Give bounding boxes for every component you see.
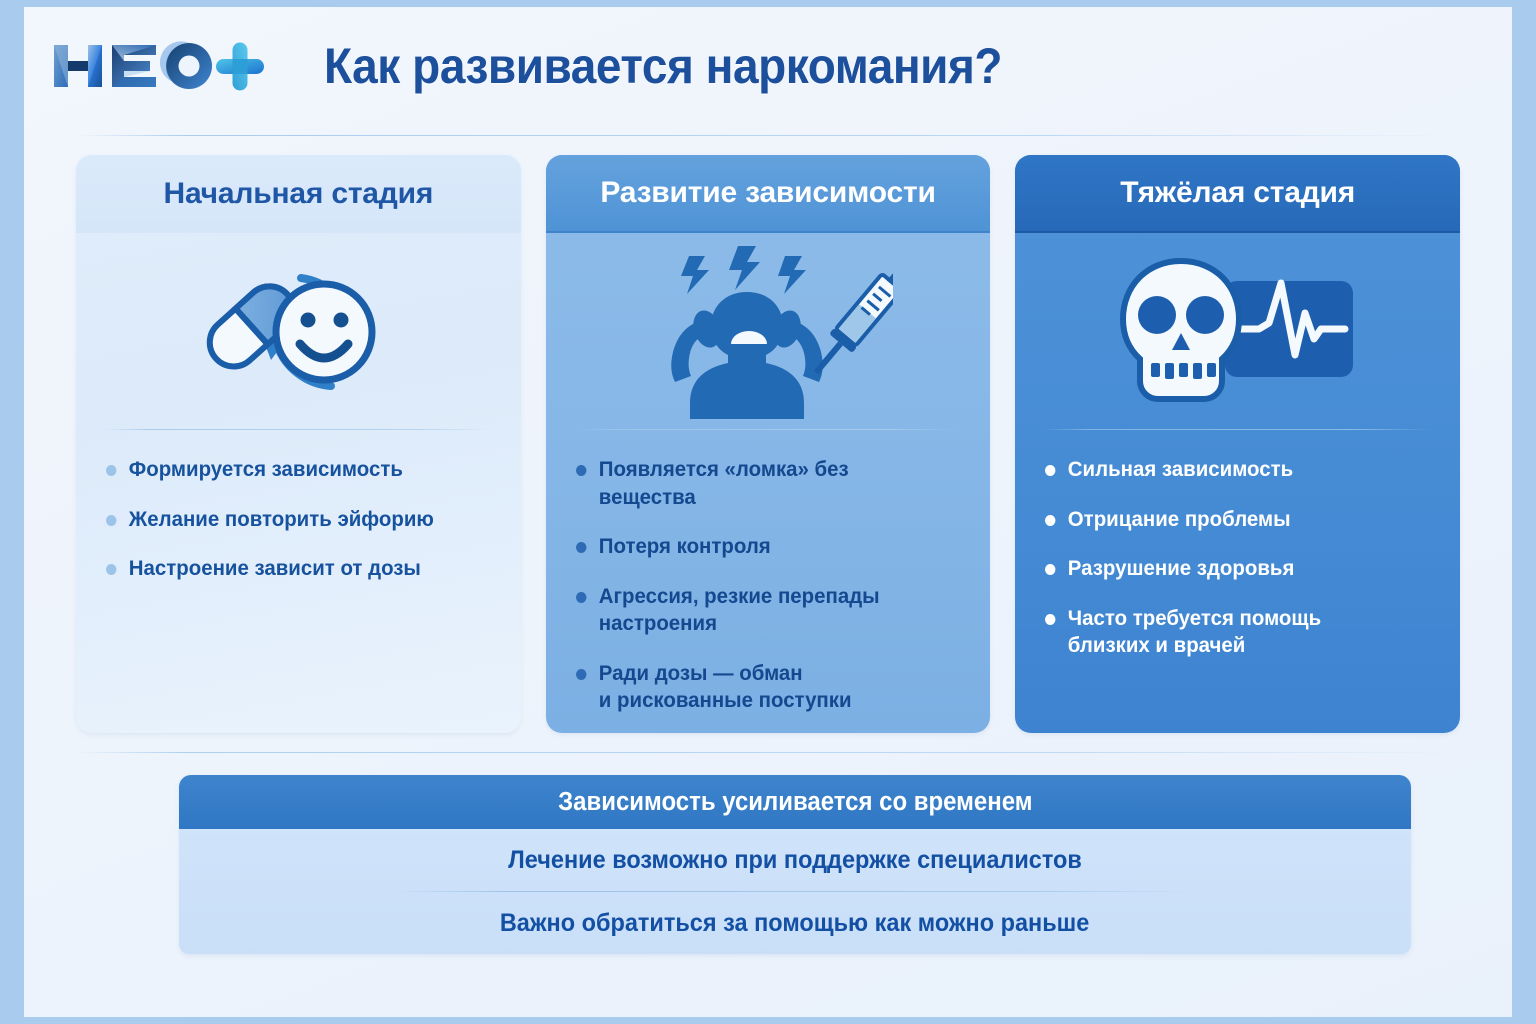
bullet-dot-icon (576, 592, 586, 603)
list-item: Отрицание проблемы (1045, 506, 1414, 534)
stage-card-development[interactable]: Развитие зависимости (546, 155, 991, 733)
infographic-poster: Как развивается наркомания? Начальная ст… (24, 7, 1512, 1017)
bullet-text: Сильная зависимость (1068, 456, 1293, 484)
bullet-text: Отрицание проблемы (1068, 506, 1291, 534)
bullet-dot-icon (106, 564, 116, 575)
list-item: Сильная зависимость (1045, 456, 1414, 484)
bullet-dot-icon (1045, 465, 1055, 476)
bullet-text: Ради дозы — обман и рискованные поступки (598, 660, 851, 715)
stage-card-header: Развитие зависимости (546, 155, 991, 233)
stage-card-body: Формируется зависимость Желание повторит… (76, 233, 521, 733)
bullet-text: Настроение зависит от дозы (129, 555, 421, 583)
list-item: Часто требуется помощь близких и врачей (1045, 605, 1414, 660)
stages-card-row: Начальная стадия (76, 155, 1460, 733)
summary-row-text: Лечение возможно при поддержке специалис… (508, 846, 1082, 875)
summary-row-text: Важно обратиться за помощью как можно ра… (500, 909, 1090, 938)
bullet-dot-icon (1045, 515, 1055, 526)
list-item: Формируется зависимость (106, 456, 475, 484)
list-item: Настроение зависит от дозы (106, 555, 475, 583)
list-item: Ради дозы — обман и рискованные поступки (576, 660, 945, 715)
list-item: Желание повторить эйфорию (106, 506, 475, 534)
neo-plus-logo (48, 31, 268, 101)
summary-row: Лечение возможно при поддержке специалис… (179, 829, 1411, 891)
pill-smiley-cycle-icon (76, 233, 521, 429)
bullet-text: Потеря контроля (598, 533, 770, 561)
bullet-text: Формируется зависимость (129, 456, 403, 484)
bullet-text: Часто требуется помощь близких и врачей (1068, 605, 1321, 660)
stage-card-body: Сильная зависимость Отрицание проблемы Р… (1015, 233, 1460, 733)
bullet-dot-icon (576, 542, 586, 553)
bullet-text: Агрессия, резкие перепады настроения (598, 583, 944, 638)
list-item: Потеря контроля (576, 533, 945, 561)
distressed-person-syringe-icon (546, 233, 991, 429)
stage-bullet-list: Сильная зависимость Отрицание проблемы Р… (1015, 430, 1460, 733)
list-item: Появляется «ломка» без вещества (576, 456, 945, 511)
bullet-dot-icon (1045, 614, 1055, 625)
poster-header: Как развивается наркомания? (24, 7, 1512, 125)
summary-panel-body: Лечение возможно при поддержке специалис… (179, 829, 1411, 954)
bullet-dot-icon (576, 465, 586, 476)
header-divider (76, 135, 1460, 136)
list-item: Агрессия, резкие перепады настроения (576, 583, 945, 638)
bullet-text: Разрушение здоровья (1068, 555, 1295, 583)
summary-panel: Зависимость усиливается со временем Лече… (179, 775, 1411, 954)
bullet-text: Желание повторить эйфорию (129, 506, 434, 534)
stage-bullet-list: Формируется зависимость Желание повторит… (76, 430, 521, 733)
page-title: Как развивается наркомания? (324, 37, 1002, 95)
bullet-text: Появляется «ломка» без вещества (598, 456, 944, 511)
stage-title: Начальная стадия (163, 177, 433, 211)
footer-divider (76, 752, 1460, 753)
summary-row: Важно обратиться за помощью как можно ра… (179, 892, 1411, 954)
bullet-dot-icon (576, 669, 586, 680)
stage-card-header: Тяжёлая стадия (1015, 155, 1460, 233)
stage-card-header: Начальная стадия (76, 155, 521, 233)
list-item: Разрушение здоровья (1045, 555, 1414, 583)
stage-title: Развитие зависимости (600, 176, 935, 210)
skull-ecg-icon (1015, 233, 1460, 429)
stage-card-body: Появляется «ломка» без вещества Потеря к… (546, 233, 991, 733)
stage-title: Тяжёлая стадия (1120, 176, 1355, 210)
stage-bullet-list: Появляется «ломка» без вещества Потеря к… (546, 430, 991, 733)
bullet-dot-icon (106, 465, 116, 476)
stage-card-initial[interactable]: Начальная стадия (76, 155, 521, 733)
summary-headline: Зависимость усиливается со временем (558, 788, 1032, 817)
summary-panel-header: Зависимость усиливается со временем (179, 775, 1411, 829)
bullet-dot-icon (106, 515, 116, 526)
stage-card-severe[interactable]: Тяжёлая стадия (1015, 155, 1460, 733)
bullet-dot-icon (1045, 564, 1055, 575)
